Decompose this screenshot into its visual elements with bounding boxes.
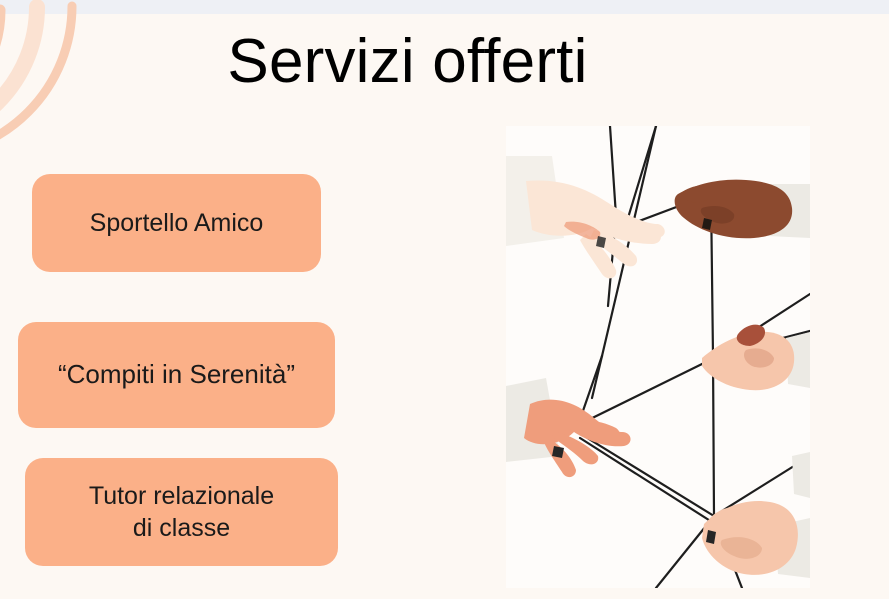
service-card-sportello-amico[interactable]: Sportello Amico [32, 174, 321, 272]
service-card-tutor-relazionale-di-classe[interactable]: Tutor relazionale di classe [25, 458, 338, 566]
app-chrome-strip [0, 0, 889, 14]
hands-network-illustration [506, 126, 810, 588]
service-card-compiti-in-serenita[interactable]: “Compiti in Serenità” [18, 322, 335, 428]
service-card-label: “Compiti in Serenità” [58, 358, 295, 391]
service-card-label: Sportello Amico [90, 207, 264, 239]
service-card-label: Tutor relazionale di classe [89, 480, 274, 544]
slide-canvas: Servizi offerti Sportello Amico “Compiti… [0, 0, 889, 599]
page-title: Servizi offerti [0, 28, 815, 96]
